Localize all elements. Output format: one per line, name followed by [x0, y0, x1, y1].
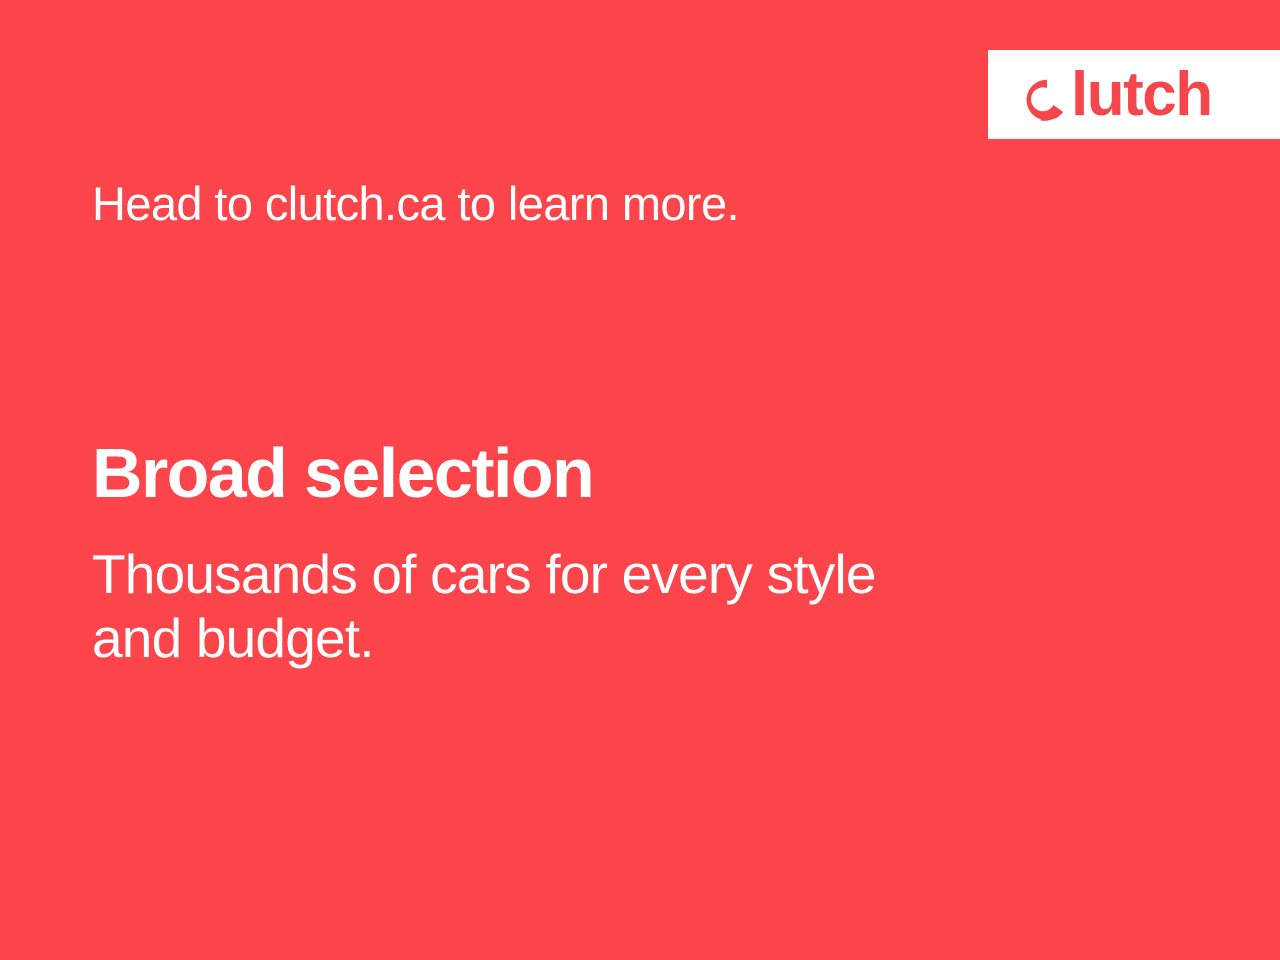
clutch-wordmark: lutch	[1071, 64, 1212, 126]
clutch-logo-plate[interactable]: lutch	[988, 50, 1280, 139]
eyebrow-text: Head to clutch.ca to learn more.	[92, 178, 739, 230]
subhead-line-2: and budget.	[92, 607, 876, 671]
slide-canvas: lutch Head to clutch.ca to learn more. B…	[0, 0, 1280, 960]
clutch-logo-lockup: lutch	[1024, 64, 1212, 126]
headline-text: Broad selection	[92, 437, 593, 511]
subhead-text: Thousands of cars for every style and bu…	[92, 543, 876, 671]
subhead-line-1: Thousands of cars for every style	[92, 543, 876, 607]
clutch-wheel-icon	[1024, 77, 1070, 123]
